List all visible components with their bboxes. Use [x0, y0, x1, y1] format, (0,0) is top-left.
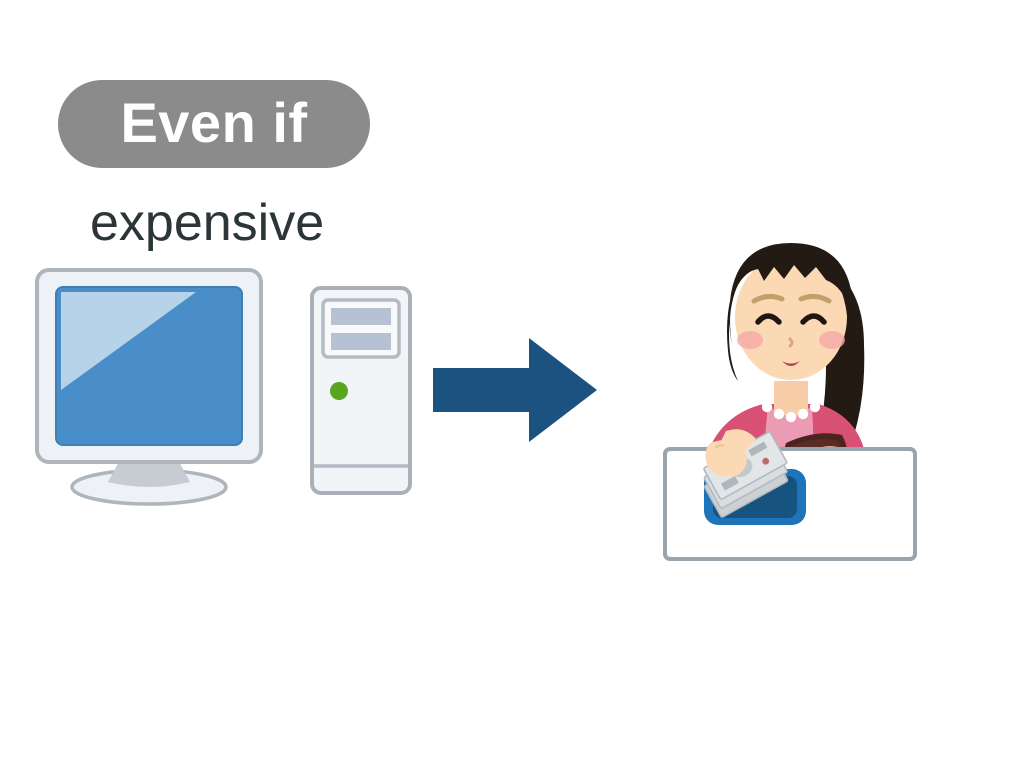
badge-label: Even if [120, 95, 307, 151]
cheek-blush [819, 331, 845, 349]
cheek-blush [737, 331, 763, 349]
badge-pill: Even if [58, 80, 370, 168]
woman-paying-cash-illustration [640, 185, 940, 575]
right-arrow-icon [425, 335, 605, 445]
slide-canvas: Even if expensive [0, 0, 1024, 768]
caption-text: expensive [90, 193, 510, 253]
drive-bar-top [331, 308, 391, 325]
desktop-computer-illustration [20, 258, 430, 528]
arrow-shape [433, 338, 597, 442]
drive-bar-bottom [331, 333, 391, 350]
power-led [330, 382, 348, 400]
